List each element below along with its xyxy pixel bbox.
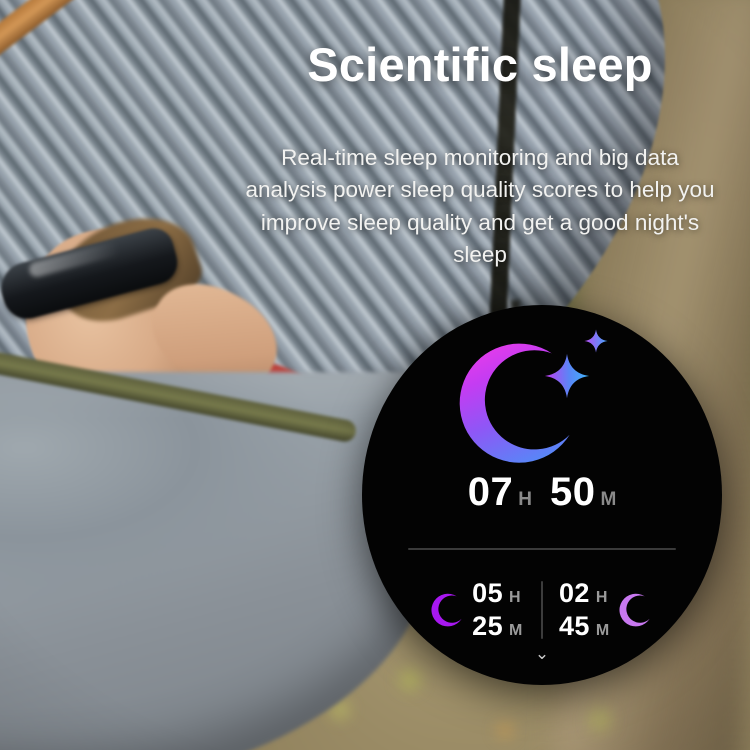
light-sleep-minutes-unit: M: [596, 622, 612, 640]
total-minutes-unit: M: [600, 489, 616, 510]
light-sleep-hours-value: 02: [559, 578, 590, 609]
total-hours-unit: H: [518, 489, 532, 510]
page-subtitle: Real-time sleep monitoring and big data …: [240, 142, 720, 272]
deep-sleep-minutes-value: 25: [472, 611, 503, 642]
promo-banner: Scientific sleep Real-time sleep monitor…: [0, 0, 750, 750]
light-sleep-hours-unit: H: [596, 589, 612, 607]
deep-sleep-hours-value: 05: [472, 578, 503, 609]
page-title: Scientific sleep: [240, 40, 720, 91]
deep-sleep-stat: 05 H 25 M: [431, 578, 525, 642]
deep-sleep-minutes-unit: M: [509, 622, 525, 640]
light-sleep-stat: 02 H 45 M: [559, 578, 653, 642]
crescent-moon-with-stars-icon: [458, 327, 608, 467]
stat-separator: [541, 581, 543, 639]
chevron-down-icon[interactable]: ⌄: [362, 645, 722, 662]
total-sleep-duration: 07H50M: [362, 470, 722, 515]
sparkle-star-large-icon: [544, 353, 590, 399]
sleep-stage-stats: 05 H 25 M 02 H 45: [362, 567, 722, 653]
light-sleep-minutes-value: 45: [559, 611, 590, 642]
moon-icon: [431, 593, 465, 627]
deep-sleep-hours-unit: H: [509, 589, 525, 607]
total-hours-value: 07: [468, 470, 514, 514]
section-divider: [408, 548, 676, 550]
total-minutes-value: 50: [550, 470, 596, 514]
sparkle-star-small-icon: [584, 329, 608, 353]
smartwatch-sleep-screen[interactable]: 07H50M 05 H 25 M: [362, 305, 722, 685]
moon-icon: [619, 593, 653, 627]
